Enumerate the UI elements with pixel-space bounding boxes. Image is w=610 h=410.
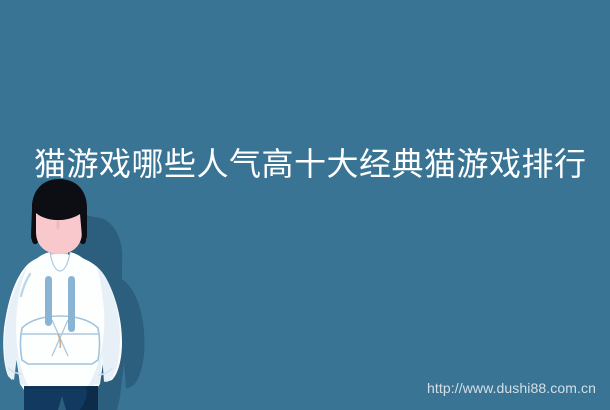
image-canvas: 猫游戏哪些人气高十大经典猫游戏排行 http://www.dushi88.com…	[0, 0, 610, 410]
site-watermark: http://www.dushi88.com.cn	[427, 380, 596, 396]
drawstring-left	[45, 276, 52, 326]
drawstring-right	[68, 276, 75, 332]
person-illustration	[0, 178, 160, 410]
page-title: 猫游戏哪些人气高十大经典猫游戏排行	[34, 144, 594, 184]
